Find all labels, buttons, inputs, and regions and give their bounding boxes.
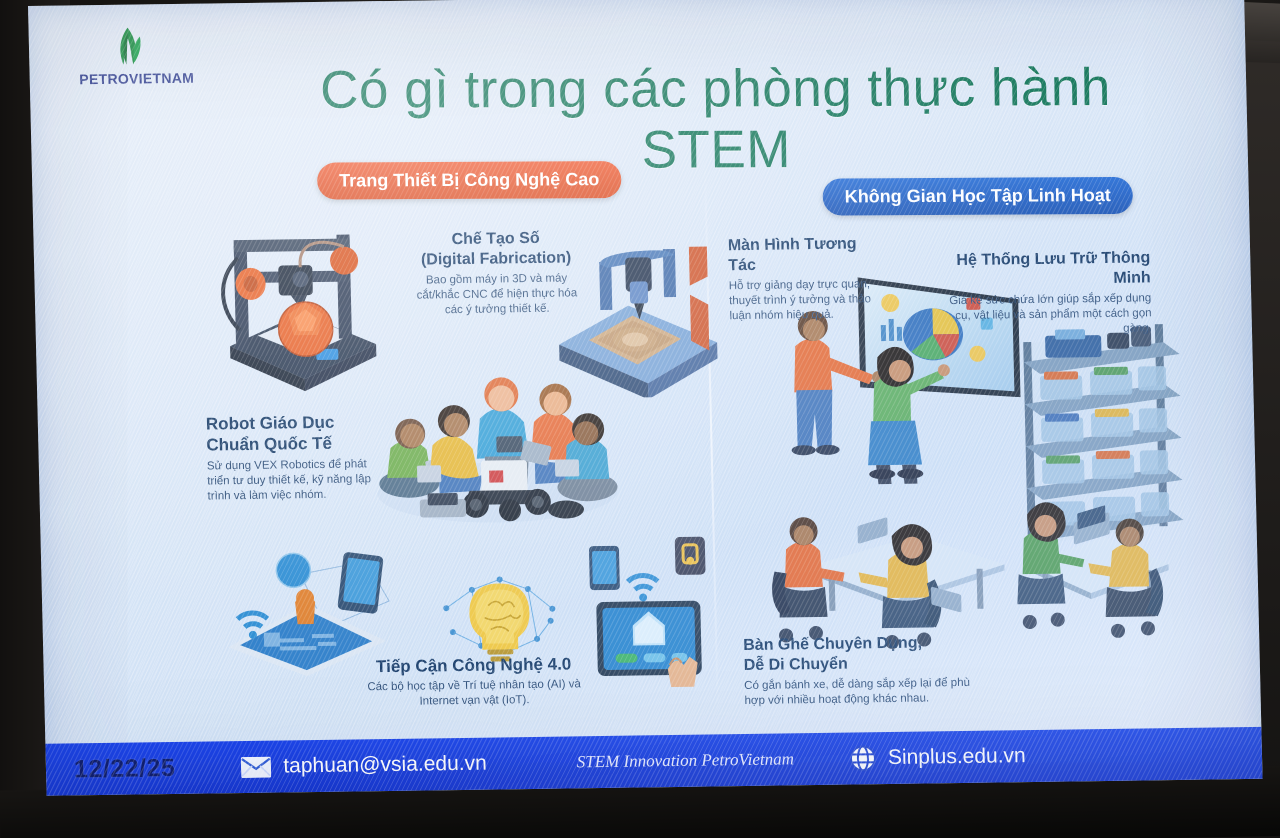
block-heading-line1: Hệ Thống Lưu Trữ Thông Minh	[934, 248, 1151, 291]
students-with-robot-illustration	[367, 363, 626, 527]
envelope-icon	[241, 756, 271, 777]
text-block-smart-storage: Hệ Thống Lưu Trữ Thông Minh Giá kệ sức c…	[934, 248, 1152, 340]
block-heading-line2: Dễ Di Chuyển	[744, 653, 972, 676]
students-at-desks-illustration	[764, 472, 1013, 650]
block-body: Giá kệ sức chứa lớn giúp sắp xếp dụng cụ…	[935, 291, 1152, 340]
text-block-educational-robot: Robot Giáo Dục Chuẩn Quốc Tế Sử dụng VEX…	[206, 411, 386, 504]
footer-website-group[interactable]: Sinplus.edu.vn	[850, 743, 1026, 771]
block-body: Có gắn bánh xe, dễ dàng sắp xếp lại để p…	[744, 676, 973, 710]
footer-email-group[interactable]: taphuan@vsia.edu.vn	[241, 752, 487, 779]
display-screen: PETROVIETNAM Có gì trong các phòng thực …	[28, 0, 1263, 806]
petrovietnam-flame-logo	[107, 26, 150, 71]
section-badge-flexible-space[interactable]: Không Gian Học Tập Linh Hoạt	[822, 177, 1133, 216]
block-body: Hỗ trợ giảng dạy trực quan, thuyết trình…	[729, 277, 882, 325]
3d-printer-illustration	[203, 216, 387, 393]
photo-of-projected-slide: PETROVIETNAM Có gì trong các phòng thực …	[0, 0, 1280, 838]
footer-website-text: Sinplus.edu.vn	[888, 744, 1026, 770]
block-body: Sử dụng VEX Robotics để phát triển tư du…	[207, 457, 386, 505]
block-heading-line1: Robot Giáo Dục	[206, 411, 384, 435]
footer-date: 12/22/25	[74, 753, 176, 783]
block-heading-line2: Chuẩn Quốc Tế	[206, 432, 384, 456]
block-heading-line1: Tiếp Cận Công Nghệ 4.0	[353, 653, 593, 678]
smart-home-tablet-illustration	[579, 536, 723, 688]
globe-icon	[850, 745, 877, 771]
teacher-with-laptop-illustration	[1014, 480, 1178, 642]
block-heading-line2: (Digital Fabrication)	[412, 248, 580, 270]
slide-footer: 12/22/25 taphuan@vsia.edu.vn STEM Innova…	[45, 727, 1262, 796]
block-body: Các bộ học tập về Trí tuệ nhân tạo (AI) …	[354, 677, 595, 711]
logo-text: PETROVIETNAM	[62, 69, 212, 87]
block-body: Bao gồm máy in 3D và máy cắt/khắc CNC để…	[412, 271, 581, 319]
text-block-digital-fabrication: Chế Tạo Số (Digital Fabrication) Bao gồm…	[411, 228, 581, 319]
text-block-industry-4-0: Tiếp Cận Công Nghệ 4.0 Các bộ học tập về…	[353, 653, 594, 711]
petrovietnam-logo: PETROVIETNAM	[61, 25, 213, 99]
footer-center-text: STEM Innovation PetroVietnam	[577, 749, 795, 772]
footer-email-text: taphuan@vsia.edu.vn	[283, 752, 487, 779]
block-heading-line1: Màn Hình Tương Tác	[728, 234, 881, 276]
text-block-interactive-display: Màn Hình Tương Tác Hỗ trợ giảng dạy trực…	[728, 234, 882, 325]
section-badge-hardware[interactable]: Trang Thiết Bị Công Nghệ Cao	[317, 161, 622, 200]
text-block-mobile-furniture: Bàn Ghế Chuyên Dụng, Dễ Di Chuyển Có gắn…	[743, 633, 973, 710]
block-heading-line1: Chế Tạo Số	[411, 228, 579, 250]
